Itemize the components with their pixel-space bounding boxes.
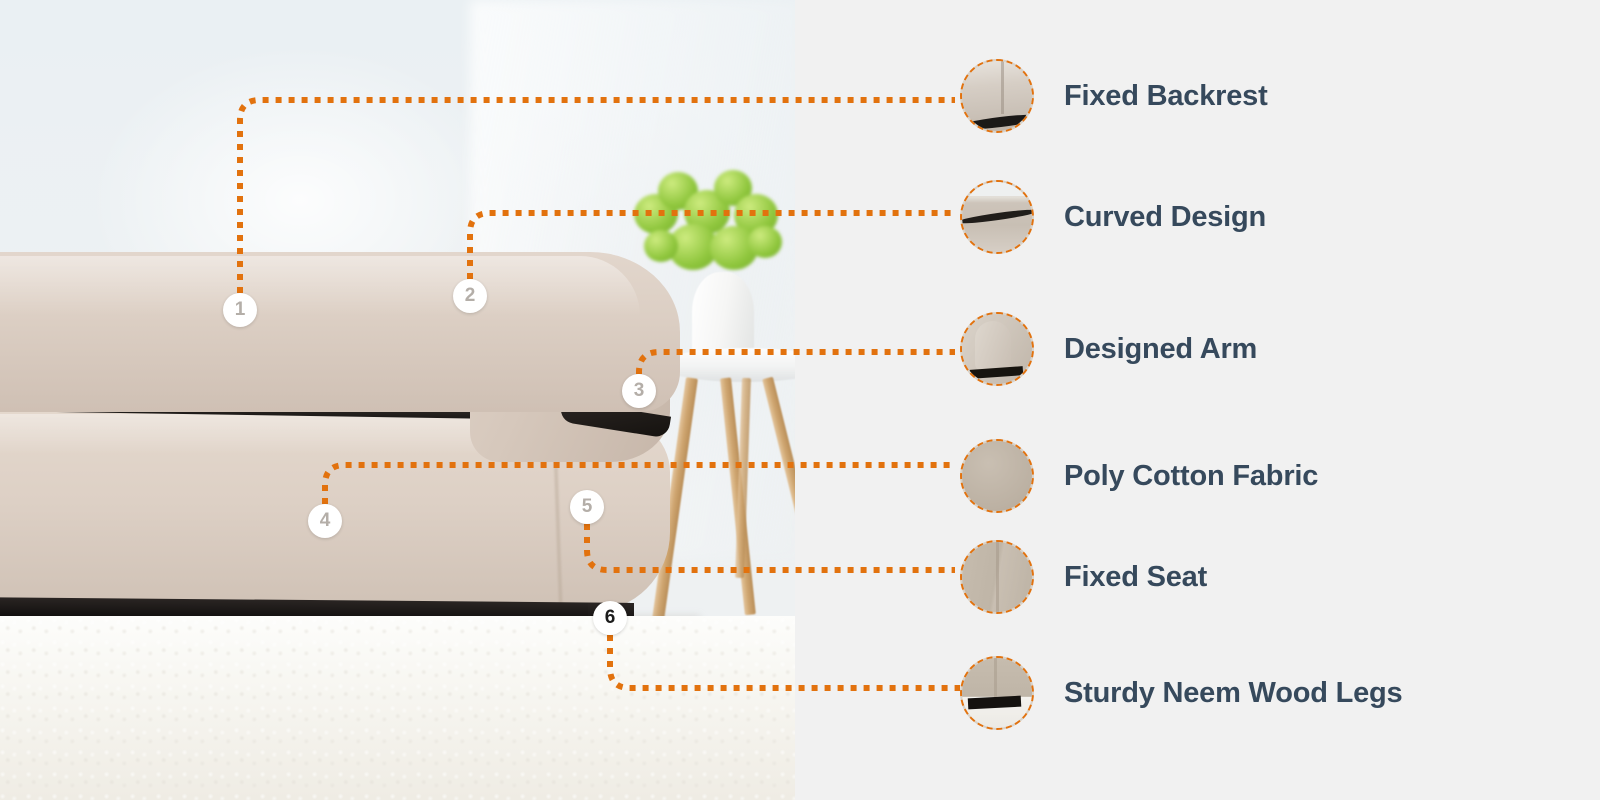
neem-wood-legs-thumbnail[interactable] (960, 656, 1034, 730)
designed-arm-thumbnail[interactable] (960, 312, 1034, 386)
thumbnail-image (962, 61, 1032, 131)
hydrangea-flowers (628, 168, 788, 288)
feature-row[interactable]: Fixed Backrest (960, 56, 1268, 136)
callout-marker-5[interactable]: 5 (570, 490, 604, 524)
poly-cotton-fabric-thumbnail[interactable] (960, 439, 1034, 513)
feature-label: Fixed Backrest (1064, 80, 1268, 113)
thumbnail-image (962, 314, 1032, 384)
feature-label: Designed Arm (1064, 333, 1257, 366)
callout-marker-2[interactable]: 2 (453, 279, 487, 313)
feature-row[interactable]: Sturdy Neem Wood Legs (960, 653, 1402, 733)
feature-row[interactable]: Fixed Seat (960, 537, 1207, 617)
callout-marker-4[interactable]: 4 (308, 504, 342, 538)
callout-marker-3[interactable]: 3 (622, 374, 656, 408)
feature-label: Poly Cotton Fabric (1064, 460, 1318, 493)
feature-list-panel: Fixed BackrestCurved DesignDesigned ArmP… (795, 0, 1600, 800)
backrest-thumbnail[interactable] (960, 59, 1034, 133)
feature-row[interactable]: Curved Design (960, 177, 1266, 257)
feature-label: Fixed Seat (1064, 561, 1207, 594)
callout-marker-6[interactable]: 6 (593, 601, 627, 635)
rug-texture (0, 616, 795, 800)
feature-row[interactable]: Poly Cotton Fabric (960, 436, 1318, 516)
feature-row[interactable]: Designed Arm (960, 309, 1257, 389)
thumbnail-image (962, 542, 1032, 612)
fixed-seat-thumbnail[interactable] (960, 540, 1034, 614)
sofa-backrest-highlight (0, 256, 640, 316)
curved-design-thumbnail[interactable] (960, 180, 1034, 254)
product-photo (0, 0, 795, 800)
thumbnail-image (962, 658, 1032, 728)
infographic-stage: Fixed BackrestCurved DesignDesigned ArmP… (0, 0, 1600, 800)
thumbnail-image (962, 441, 1032, 511)
feature-label: Sturdy Neem Wood Legs (1064, 677, 1402, 710)
callout-marker-1[interactable]: 1 (223, 293, 257, 327)
feature-label: Curved Design (1064, 201, 1266, 234)
thumbnail-image (962, 182, 1032, 252)
